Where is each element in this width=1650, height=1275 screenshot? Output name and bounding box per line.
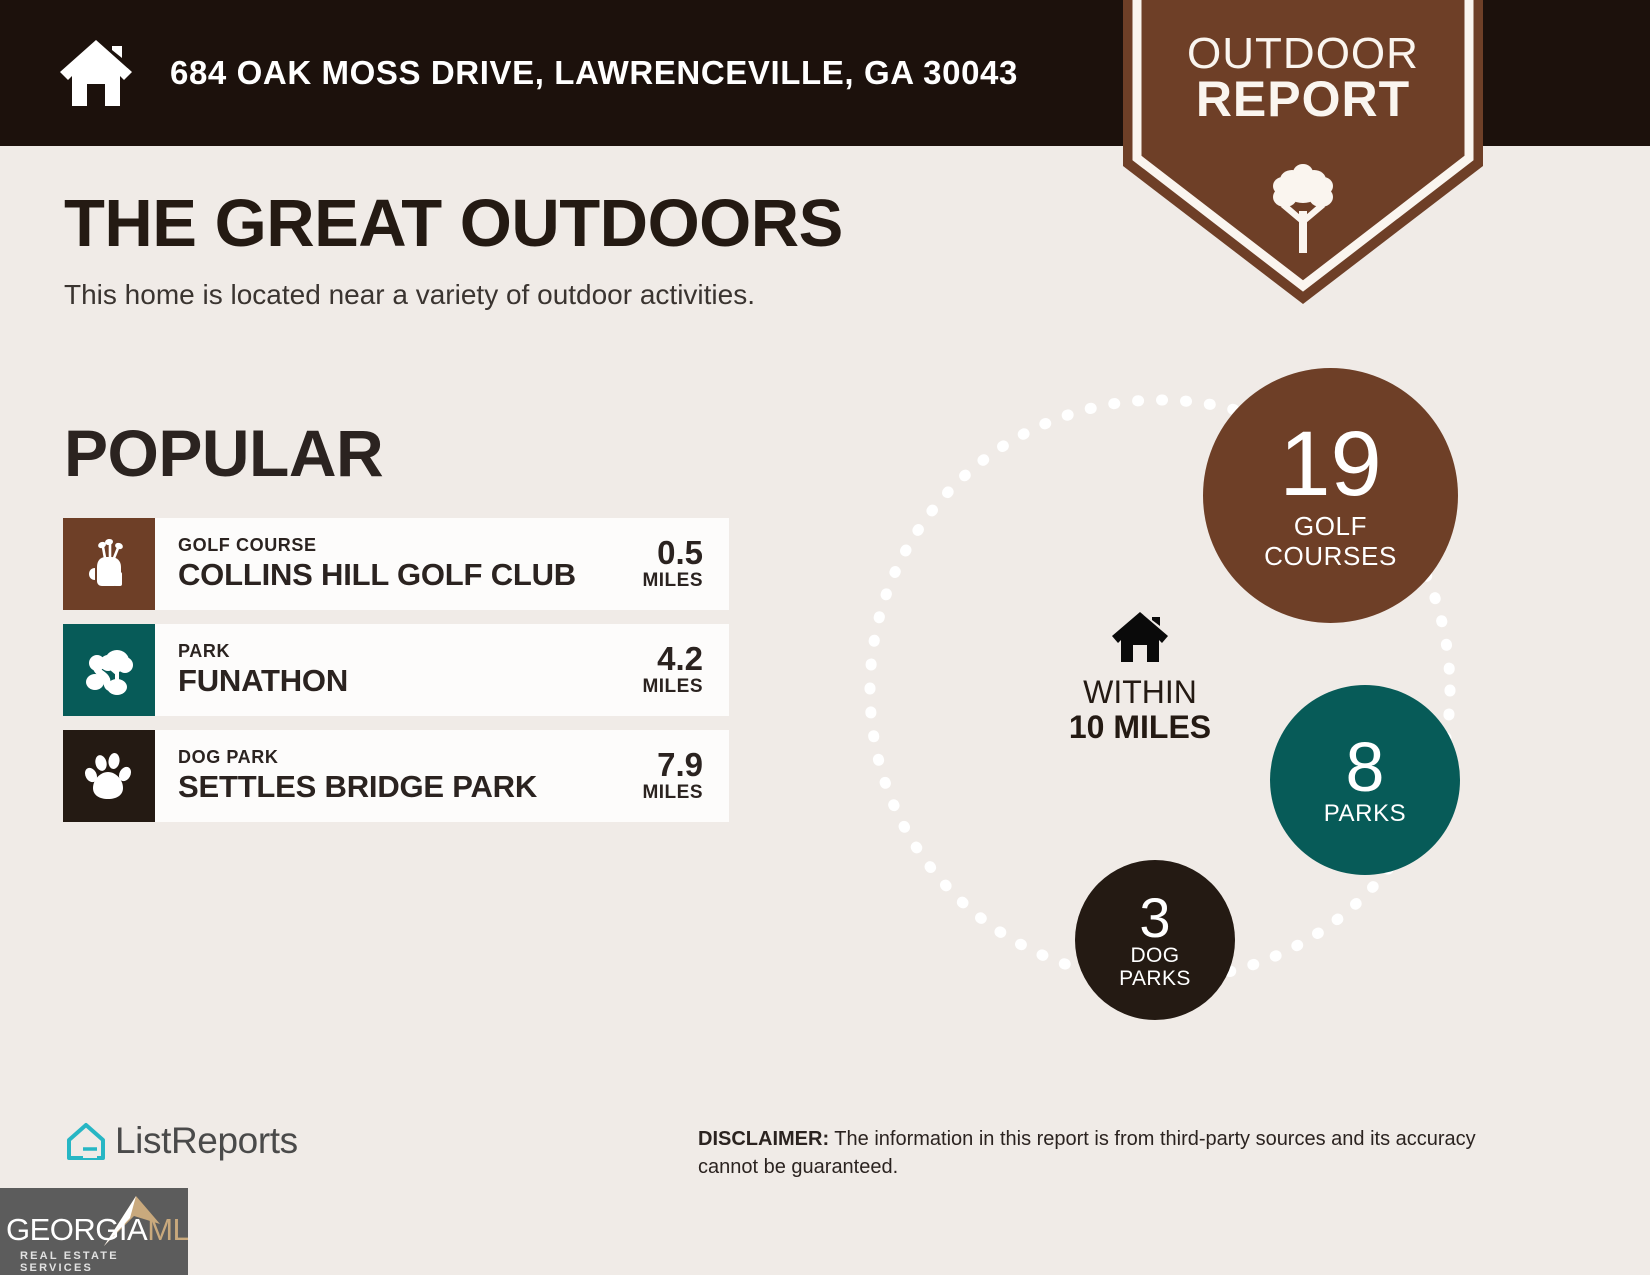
distance-unit: MILES — [625, 782, 703, 804]
list-item[interactable]: DOG PARK SETTLES BRIDGE PARK 7.9 MILES — [63, 730, 729, 822]
outdoor-report-badge: OUTDOOR REPORT — [1123, 0, 1483, 304]
page-title: THE GREAT OUTDOORS — [64, 190, 843, 257]
georgia-mls-wordmark: GEORGIAMLS — [6, 1212, 188, 1248]
list-item-text: DOG PARK SETTLES BRIDGE PARK — [178, 748, 625, 805]
list-item-name: SETTLES BRIDGE PARK — [178, 770, 625, 805]
list-item-category: DOG PARK — [178, 748, 625, 768]
golf-courses-count: 19 — [1279, 421, 1381, 508]
listreports-wordmark: ListReports — [115, 1120, 298, 1162]
paw-print-icon — [83, 750, 135, 802]
golf-bag-icon — [83, 538, 135, 590]
header-content: 684 OAK MOSS DRIVE, LAWRENCEVILLE, GA 30… — [58, 0, 1018, 146]
list-item-name: COLLINS HILL GOLF CLUB — [178, 558, 625, 593]
park-tree-icon — [83, 644, 135, 696]
stat-bubble-parks[interactable]: 8 PARKS — [1270, 685, 1460, 875]
parks-count: 8 — [1346, 734, 1385, 801]
home-icon — [1110, 651, 1170, 668]
list-item-icon-tile — [63, 730, 155, 822]
list-item-distance: 0.5 MILES — [625, 536, 721, 592]
distance-value: 7.9 — [625, 748, 703, 782]
list-item-body: GOLF COURSE COLLINS HILL GOLF CLUB 0.5 M… — [155, 518, 729, 610]
center-label-line1: WITHIN — [1045, 675, 1235, 710]
list-item-distance: 4.2 MILES — [625, 642, 721, 698]
list-item-distance: 7.9 MILES — [625, 748, 721, 804]
dog-parks-label-line1: DOG — [1130, 945, 1179, 966]
list-item-text: PARK FUNATHON — [178, 642, 625, 699]
list-item-text: GOLF COURSE COLLINS HILL GOLF CLUB — [178, 536, 625, 593]
distance-unit: MILES — [625, 676, 703, 698]
golf-courses-label-line1: GOLF — [1294, 513, 1367, 540]
dog-parks-label-line2: PARKS — [1119, 968, 1191, 989]
list-item-category: PARK — [178, 642, 625, 662]
home-icon — [58, 38, 134, 108]
list-item-name: FUNATHON — [178, 664, 625, 699]
stat-bubble-golf-courses[interactable]: 19 GOLF COURSES — [1203, 368, 1458, 623]
watermark-georgia: GEORGIA — [6, 1212, 147, 1247]
parks-label: PARKS — [1324, 802, 1407, 826]
distance-value: 4.2 — [625, 642, 703, 676]
proximity-diagram: WITHIN 10 MILES 19 GOLF COURSES 8 PARKS … — [830, 340, 1620, 1060]
watermark-subtitle: REAL ESTATE SERVICES — [20, 1250, 188, 1274]
page-subtitle: This home is located near a variety of o… — [64, 279, 843, 311]
list-item[interactable]: PARK FUNATHON 4.2 MILES — [63, 624, 729, 716]
list-item[interactable]: GOLF COURSE COLLINS HILL GOLF CLUB 0.5 M… — [63, 518, 729, 610]
dog-parks-count: 3 — [1139, 891, 1170, 944]
popular-list: GOLF COURSE COLLINS HILL GOLF CLUB 0.5 M… — [63, 518, 729, 836]
list-item-icon-tile — [63, 624, 155, 716]
listreports-house-icon — [63, 1118, 109, 1164]
distance-value: 0.5 — [625, 536, 703, 570]
disclaimer: DISCLAIMER: The information in this repo… — [698, 1126, 1518, 1181]
list-item-category: GOLF COURSE — [178, 536, 625, 556]
list-item-icon-tile — [63, 518, 155, 610]
listreports-logo[interactable]: ListReports — [63, 1118, 298, 1164]
golf-courses-label-line2: COURSES — [1264, 543, 1397, 570]
list-item-body: PARK FUNATHON 4.2 MILES — [155, 624, 729, 716]
center-marker: WITHIN 10 MILES — [1045, 610, 1235, 744]
distance-unit: MILES — [625, 570, 703, 592]
property-address: 684 OAK MOSS DRIVE, LAWRENCEVILLE, GA 30… — [170, 54, 1018, 92]
georgia-mls-watermark: GEORGIAMLS REAL ESTATE SERVICES — [0, 1188, 188, 1275]
outdoor-report-page: 684 OAK MOSS DRIVE, LAWRENCEVILLE, GA 30… — [0, 0, 1650, 1275]
title-block: THE GREAT OUTDOORS This home is located … — [64, 190, 843, 311]
stat-bubble-dog-parks[interactable]: 3 DOG PARKS — [1075, 860, 1235, 1020]
list-item-body: DOG PARK SETTLES BRIDGE PARK 7.9 MILES — [155, 730, 729, 822]
disclaimer-label: DISCLAIMER: — [698, 1128, 829, 1150]
center-label-line2: 10 MILES — [1045, 710, 1235, 745]
watermark-mls: MLS — [147, 1212, 188, 1247]
popular-heading: POPULAR — [64, 415, 383, 491]
